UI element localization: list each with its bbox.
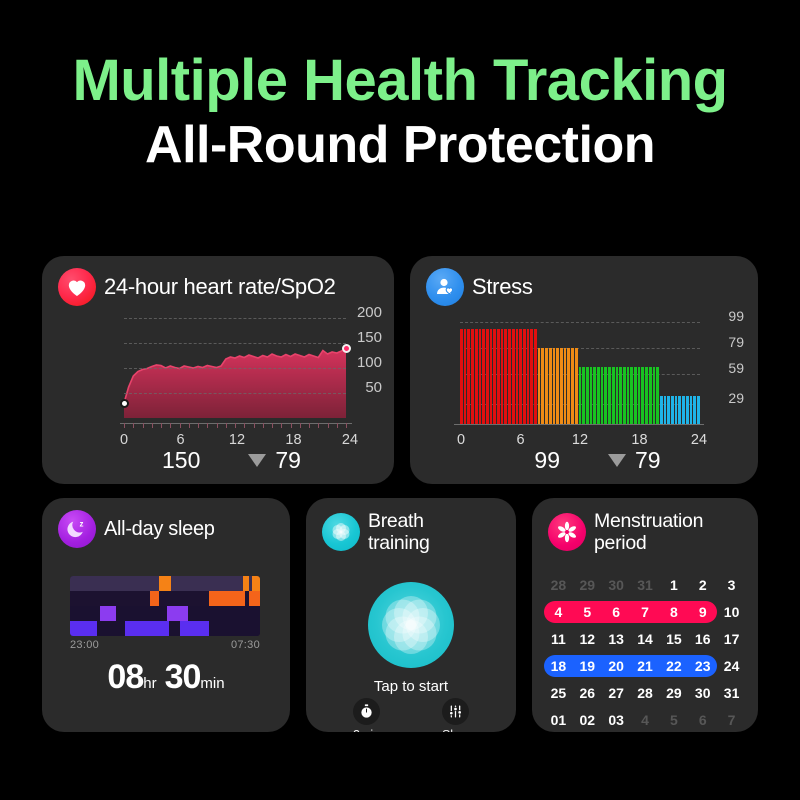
calendar-day-cell[interactable]: 12 [573, 631, 602, 647]
stress-bar-high [479, 329, 482, 424]
calendar-day-cell[interactable]: 01 [544, 712, 573, 728]
stress-xtick-0: 0 [457, 432, 465, 448]
stress-bar-normal [590, 367, 593, 424]
stress-bar-relaxed [667, 396, 670, 424]
stress-bar-medium [567, 348, 570, 424]
stress-bar-high [482, 329, 485, 424]
breath-controls: 2min [306, 698, 516, 732]
hr-tick [300, 423, 301, 428]
stress-bar-normal [586, 367, 589, 424]
heart-rate-max: 150 [135, 447, 200, 474]
calendar-day-cell[interactable]: 16 [688, 631, 717, 647]
sleep-card[interactable]: z All-day sleep 23:00 07:30 08hr30min [42, 498, 290, 732]
hr-tick [272, 423, 273, 428]
stress-bar-medium [575, 348, 578, 424]
heart-icon [58, 268, 96, 306]
hr-tick [143, 423, 144, 428]
headline: Multiple Health Tracking All-Round Prote… [0, 50, 800, 178]
hr-tick [180, 423, 181, 428]
stress-bar-high [486, 329, 489, 424]
breath-header: Breath training [306, 498, 516, 555]
stress-bar-high [534, 329, 537, 424]
calendar-day-cell[interactable]: 28 [544, 577, 573, 593]
svg-text:z: z [80, 520, 84, 529]
sleep-segment-deep [125, 621, 169, 636]
hr-xtick-0: 0 [120, 432, 128, 448]
calendar-day-cell[interactable]: 19 [573, 658, 602, 674]
hr-tick [198, 423, 199, 428]
triangle-down-icon [608, 454, 626, 467]
stress-bar-normal [645, 367, 648, 424]
sleep-chart [70, 576, 260, 636]
sleep-start-time: 23:00 [70, 639, 99, 651]
sleep-hours: 08 [107, 658, 143, 696]
hr-tick [309, 423, 310, 428]
calendar-day-cell[interactable]: 7 [631, 604, 660, 620]
sleep-hours-unit: hr [143, 675, 156, 692]
breath-start-circle[interactable] [368, 582, 454, 668]
breath-duration-label: 2min [353, 728, 380, 732]
menstruation-title-line-1: Menstruation [594, 510, 703, 532]
stress-bars [460, 318, 700, 424]
menstruation-title-line-2: period [594, 532, 703, 554]
gridline-150 [124, 343, 346, 344]
hr-tick [235, 423, 236, 428]
stress-bar-relaxed [675, 396, 678, 424]
stress-xtick-24: 24 [691, 432, 707, 448]
hr-tick [217, 423, 218, 428]
stress-bar-relaxed [660, 396, 663, 424]
menstruation-calendar[interactable]: 2829303112345678910111213141516171819202… [544, 572, 746, 732]
stress-bar-normal [612, 367, 615, 424]
calendar-day-cell[interactable]: 8 [659, 604, 688, 620]
hr-tick [161, 423, 162, 428]
calendar-day-cell[interactable]: 4 [631, 712, 660, 728]
hr-tick [207, 423, 208, 428]
hr-ytick-100: 100 [357, 354, 382, 371]
stress-min: 79 [608, 447, 661, 474]
breath-card[interactable]: Breath training Tap to start [306, 498, 516, 732]
calendar-row: 25262728293031 [544, 680, 746, 706]
headline-line-1: Multiple Health Tracking [0, 50, 800, 113]
stress-bar-high [530, 329, 533, 424]
sleep-band-awake [70, 576, 260, 591]
calendar-day-cell[interactable]: 23 [688, 658, 717, 674]
gridline-200 [124, 318, 346, 319]
stress-bar-high [490, 329, 493, 424]
stress-bar-normal [641, 367, 644, 424]
calendar-row: 11121314151617 [544, 626, 746, 652]
stress-bar-medium [541, 348, 544, 424]
calendar-day-cell[interactable]: 13 [602, 631, 631, 647]
stopwatch-icon[interactable] [353, 698, 380, 725]
card-grid: 24-hour heart rate/SpO2 [42, 256, 758, 732]
hr-tick [281, 423, 282, 428]
calendar-row: 0102034567 [544, 707, 746, 732]
sleep-band-light [70, 606, 260, 621]
calendar-day-cell[interactable]: 27 [602, 685, 631, 701]
stress-bar-normal [619, 367, 622, 424]
stress-bar-medium [545, 348, 548, 424]
calendar-day-cell[interactable]: 26 [573, 685, 602, 701]
calendar-day-cell[interactable]: 9 [688, 604, 717, 620]
hr-xtick-6: 6 [176, 432, 184, 448]
breath-speed-control[interactable]: Slow [442, 698, 469, 732]
hr-tick [328, 423, 329, 428]
calendar-day-cell[interactable]: 02 [573, 712, 602, 728]
stress-ytick-29: 29 [728, 390, 744, 406]
moon-z-icon: z [58, 510, 96, 548]
heart-rate-max-value: 150 [162, 447, 200, 474]
hr-ytick-50: 50 [365, 379, 382, 396]
calendar-day-cell[interactable]: 17 [717, 631, 746, 647]
sleep-segment-light [100, 606, 115, 621]
stress-bar-high [467, 329, 470, 424]
hr-tick [152, 423, 153, 428]
person-heart-icon [426, 268, 464, 306]
hr-xtick-24: 24 [342, 432, 358, 448]
hr-tick [133, 423, 134, 428]
sleep-segment-rem [150, 591, 160, 606]
sleep-time-range: 23:00 07:30 [70, 639, 260, 651]
stress-bar-relaxed [664, 396, 667, 424]
sleep-segment-awake [243, 576, 249, 591]
stress-bar-normal [608, 367, 611, 424]
breath-duration-control[interactable]: 2min [353, 698, 380, 732]
sleep-segment-rem [249, 591, 260, 606]
stress-bar-relaxed [671, 396, 674, 424]
stress-bar-high [504, 329, 507, 424]
menstruation-card[interactable]: Menstruation period 28293031123456789101… [532, 498, 758, 732]
stress-bar-relaxed [686, 396, 689, 424]
calendar-day-cell[interactable]: 14 [631, 631, 660, 647]
sleep-segment-light [167, 606, 188, 621]
stress-ytick-99: 99 [728, 308, 744, 324]
hr-tick [170, 423, 171, 428]
calendar-day-cell[interactable]: 2 [688, 577, 717, 593]
stress-bar-normal [597, 367, 600, 424]
stress-bar-medium [560, 348, 563, 424]
calendar-day-cell[interactable]: 11 [544, 631, 573, 647]
stress-xtick-6: 6 [516, 432, 524, 448]
heart-rate-start-point [120, 399, 129, 408]
promo-page: Multiple Health Tracking All-Round Prote… [0, 0, 800, 800]
breath-tap-label: Tap to start [306, 678, 516, 695]
stress-bar-normal [593, 367, 596, 424]
hr-tick [226, 423, 227, 428]
heart-rate-min-value: 79 [275, 447, 301, 474]
calendar-day-cell[interactable]: 28 [631, 685, 660, 701]
breath-title: Breath training [368, 510, 430, 555]
hr-tick [189, 423, 190, 428]
heart-rate-title: 24-hour heart rate/SpO2 [104, 275, 336, 299]
card-row-1: 24-hour heart rate/SpO2 [42, 256, 758, 484]
breath-title-line-2: training [368, 532, 430, 554]
sleep-segment-awake [252, 576, 260, 591]
stress-bar-medium [556, 348, 559, 424]
heart-rate-axis-line [120, 423, 352, 424]
calendar-row: 45678910 [544, 599, 746, 625]
stress-bar-high [460, 329, 463, 424]
heart-rate-card[interactable]: 24-hour heart rate/SpO2 [42, 256, 394, 484]
stress-bar-medium [549, 348, 552, 424]
hr-xtick-18: 18 [285, 432, 301, 448]
hr-tick [291, 423, 292, 428]
hr-xtick-12: 12 [229, 432, 245, 448]
stress-xtick-12: 12 [572, 432, 588, 448]
calendar-day-cell[interactable]: 1 [659, 577, 688, 593]
headline-line-2: All-Round Protection [0, 113, 800, 178]
stress-max-value: 99 [534, 447, 560, 474]
stress-bar-high [475, 329, 478, 424]
calendar-day-cell[interactable]: 22 [659, 658, 688, 674]
stress-bar-high [464, 329, 467, 424]
stress-bar-high [527, 329, 530, 424]
heart-rate-chart [124, 318, 346, 418]
stress-axis-line [454, 424, 704, 425]
calendar-day-cell[interactable]: 31 [631, 577, 660, 593]
stress-stats: 99 79 [410, 447, 758, 474]
stress-bar-normal [579, 367, 582, 424]
sleep-segment-deep [180, 621, 209, 636]
stress-bar-relaxed [697, 396, 700, 424]
calendar-day-cell[interactable]: 5 [659, 712, 688, 728]
calendar-day-cell[interactable]: 7 [717, 712, 746, 728]
stress-bar-normal [623, 367, 626, 424]
stress-xtick-18: 18 [631, 432, 647, 448]
sliders-icon[interactable] [442, 698, 469, 725]
stress-bar-high [516, 329, 519, 424]
flower-icon [548, 513, 586, 551]
sleep-segment-deep [70, 621, 97, 636]
menstruation-header: Menstruation period [532, 498, 758, 555]
breath-title-line-1: Breath [368, 510, 430, 532]
stress-bar-high [508, 329, 511, 424]
stress-ytick-79: 79 [728, 334, 744, 350]
calendar-day-cell[interactable]: 30 [602, 577, 631, 593]
sleep-segment-rem [209, 591, 245, 606]
calendar-day-cell[interactable]: 30 [688, 685, 717, 701]
heart-rate-y-axis: 50100150200 [334, 312, 382, 424]
stress-bar-high [501, 329, 504, 424]
stress-bar-relaxed [690, 396, 693, 424]
calendar-day-cell[interactable]: 10 [717, 604, 746, 620]
stress-bar-normal [604, 367, 607, 424]
stress-bar-high [471, 329, 474, 424]
hr-ytick-150: 150 [357, 329, 382, 346]
calendar-day-cell[interactable]: 29 [659, 685, 688, 701]
breath-petal [403, 600, 437, 634]
sleep-minutes: 30 [165, 658, 201, 696]
hr-tick [244, 423, 245, 428]
calendar-day-cell[interactable]: 31 [717, 685, 746, 701]
stress-bar-normal [616, 367, 619, 424]
calendar-day-cell[interactable]: 24 [717, 658, 746, 674]
stress-header: Stress [410, 256, 758, 306]
hr-tick [318, 423, 319, 428]
stress-bar-high [497, 329, 500, 424]
stress-bar-medium [538, 348, 541, 424]
sleep-segment-awake [159, 576, 170, 591]
stress-y-axis: 29597999 [704, 312, 744, 428]
calendar-day-cell[interactable]: 03 [602, 712, 631, 728]
sleep-minutes-unit: min [200, 675, 224, 692]
stress-title: Stress [472, 275, 533, 299]
stress-chart [460, 318, 700, 424]
stress-bar-high [493, 329, 496, 424]
calendar-day-cell[interactable]: 6 [688, 712, 717, 728]
gridline-50 [124, 393, 346, 394]
sleep-end-time: 07:30 [231, 639, 260, 651]
stress-bar-normal [582, 367, 585, 424]
calendar-day-cell[interactable]: 6 [602, 604, 631, 620]
heart-rate-stats: 150 79 [42, 447, 394, 474]
card-row-2: z All-day sleep 23:00 07:30 08hr30min [42, 498, 758, 732]
heart-rate-header: 24-hour heart rate/SpO2 [42, 256, 394, 306]
calendar-day-cell[interactable]: 29 [573, 577, 602, 593]
stress-bar-medium [553, 348, 556, 424]
stress-bar-relaxed [693, 396, 696, 424]
stress-bar-normal [601, 367, 604, 424]
heart-rate-min: 79 [248, 447, 301, 474]
breath-flower-icon [322, 513, 360, 551]
calendar-day-cell[interactable]: 3 [717, 577, 746, 593]
sleep-title: All-day sleep [104, 518, 215, 540]
sleep-duration: 08hr30min [42, 658, 290, 697]
calendar-day-cell[interactable]: 15 [659, 631, 688, 647]
stress-bar-high [512, 329, 515, 424]
stress-bar-normal [627, 367, 630, 424]
hr-tick [254, 423, 255, 428]
stress-bar-normal [649, 367, 652, 424]
calendar-day-cell[interactable]: 5 [573, 604, 602, 620]
stress-bar-normal [638, 367, 641, 424]
stress-bar-normal [634, 367, 637, 424]
stress-max: 99 [507, 447, 560, 474]
hr-ytick-200: 200 [357, 304, 382, 321]
sleep-band-deep [70, 621, 260, 636]
stress-bar-high [523, 329, 526, 424]
hr-tick [124, 423, 125, 428]
gridline-100 [124, 368, 346, 369]
sleep-band-rem [70, 591, 260, 606]
calendar-day-cell[interactable]: 25 [544, 685, 573, 701]
stress-bar-medium [571, 348, 574, 424]
calendar-day-cell[interactable]: 4 [544, 604, 573, 620]
stress-bar-medium [564, 348, 567, 424]
sleep-header: z All-day sleep [42, 498, 290, 548]
stress-bar-relaxed [678, 396, 681, 424]
stress-bar-normal [630, 367, 633, 424]
stress-min-value: 79 [635, 447, 661, 474]
stress-bar-normal [656, 367, 659, 424]
calendar-day-cell[interactable]: 20 [602, 658, 631, 674]
stress-card[interactable]: Stress 29597999 06121824 99 [410, 256, 758, 484]
calendar-day-cell[interactable]: 18 [544, 658, 573, 674]
hr-tick [263, 423, 264, 428]
breath-speed-label: Slow [442, 728, 469, 732]
stress-ytick-59: 59 [728, 360, 744, 376]
stress-bar-high [519, 329, 522, 424]
stress-bar-relaxed [682, 396, 685, 424]
calendar-day-cell[interactable]: 21 [631, 658, 660, 674]
menstruation-title: Menstruation period [594, 510, 703, 555]
triangle-down-icon [248, 454, 266, 467]
stress-bar-normal [653, 367, 656, 424]
calendar-row: 18192021222324 [544, 653, 746, 679]
calendar-row: 28293031123 [544, 572, 746, 598]
